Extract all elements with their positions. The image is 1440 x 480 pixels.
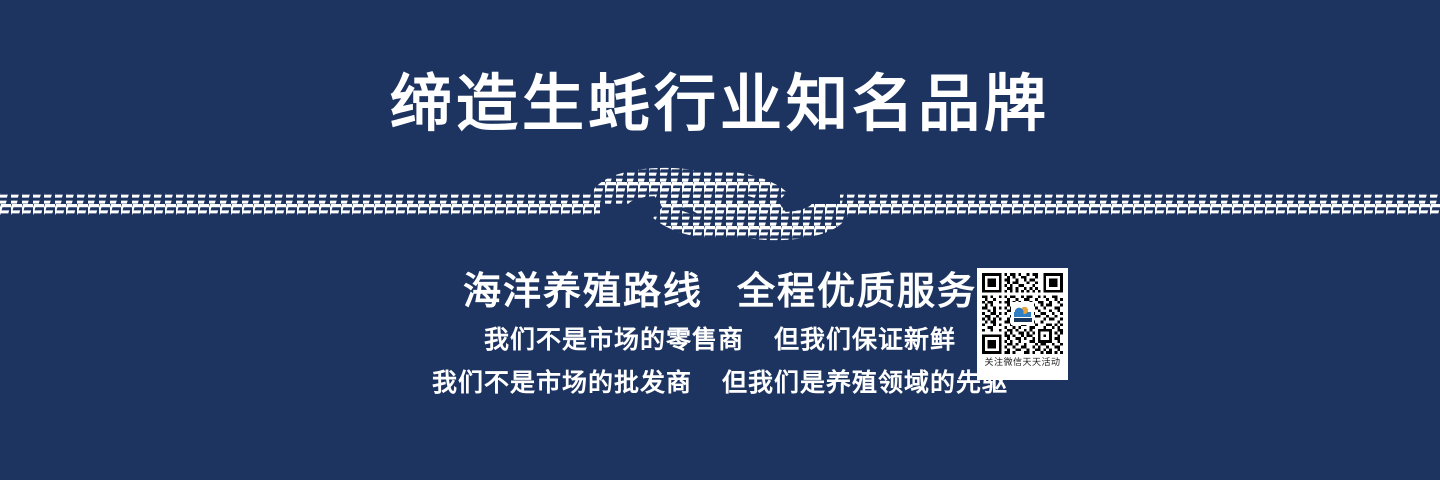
- brand-logo-icon: [1011, 302, 1034, 325]
- qr-code-caption: 关注微信天天活动: [984, 356, 1060, 368]
- body-line-1-right: 但我们保证新鲜: [774, 326, 956, 354]
- subheadline: 海洋养殖路线全程优质服务: [0, 260, 1440, 315]
- subheadline-right: 全程优质服务: [737, 271, 977, 313]
- body-line-2: 我们不是市场的批发商但我们是养殖领域的先驱: [0, 363, 1440, 399]
- qr-code-card[interactable]: 关注微信天天活动: [977, 268, 1068, 380]
- brand-logo-mark: [1014, 306, 1031, 317]
- body-line-2-right: 但我们是养殖领域的先驱: [722, 369, 1008, 397]
- subheadline-left: 海洋养殖路线: [463, 271, 703, 313]
- body-line-2-left: 我们不是市场的批发商: [432, 369, 692, 397]
- body-line-1: 我们不是市场的零售商但我们保证新鲜: [0, 320, 1440, 356]
- qr-code-icon[interactable]: [982, 273, 1063, 354]
- rope-knot-divider: [0, 160, 1440, 250]
- page-title: 缔造生蚝行业知名品牌: [0, 72, 1440, 137]
- body-line-1-left: 我们不是市场的零售商: [484, 326, 744, 354]
- promo-banner: 缔造生蚝行业知名品牌: [0, 0, 1440, 480]
- brand-logo-bar: [1014, 318, 1032, 322]
